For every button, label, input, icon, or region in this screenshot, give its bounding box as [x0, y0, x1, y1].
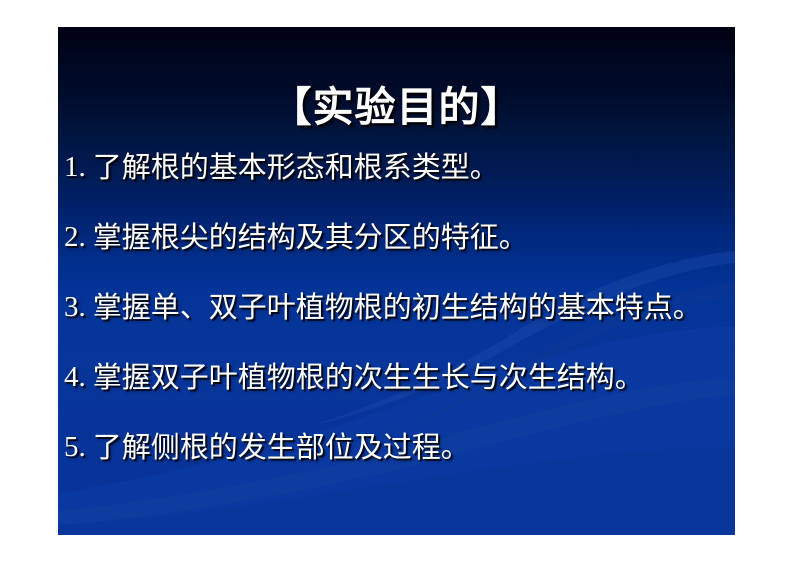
list-item-number: 5.: [64, 433, 93, 462]
list-item: 4. 掌握双子叶植物根的次生生长与次生结构。: [64, 363, 735, 433]
list-item-number: 3.: [64, 293, 93, 322]
objectives-list: 1. 了解根的基本形态和根系类型。 2. 掌握根尖的结构及其分区的特征。 3. …: [64, 153, 735, 503]
list-item-number: 2.: [64, 223, 93, 252]
list-item-text: 掌握根尖的结构及其分区的特征。: [93, 223, 528, 252]
list-item-text: 了解侧根的发生部位及过程。: [93, 433, 470, 462]
presentation-slide: 【实验目的】 1. 了解根的基本形态和根系类型。 2. 掌握根尖的结构及其分区的…: [58, 27, 735, 535]
list-item-text: 了解根的基本形态和根系类型。: [93, 153, 499, 182]
list-item-text: 掌握双子叶植物根的次生生长与次生结构。: [93, 363, 644, 392]
slide-title: 【实验目的】: [58, 85, 735, 130]
list-item-number: 4.: [64, 363, 93, 392]
list-item-number: 1.: [64, 153, 93, 182]
list-item: 3. 掌握单、双子叶植物根的初生结构的基本特点。: [64, 293, 735, 363]
page-canvas: 【实验目的】 1. 了解根的基本形态和根系类型。 2. 掌握根尖的结构及其分区的…: [0, 0, 793, 561]
list-item: 1. 了解根的基本形态和根系类型。: [64, 153, 735, 223]
list-item: 5. 了解侧根的发生部位及过程。: [64, 433, 735, 503]
list-item-text: 掌握单、双子叶植物根的初生结构的基本特点。: [93, 293, 702, 322]
list-item: 2. 掌握根尖的结构及其分区的特征。: [64, 223, 735, 293]
